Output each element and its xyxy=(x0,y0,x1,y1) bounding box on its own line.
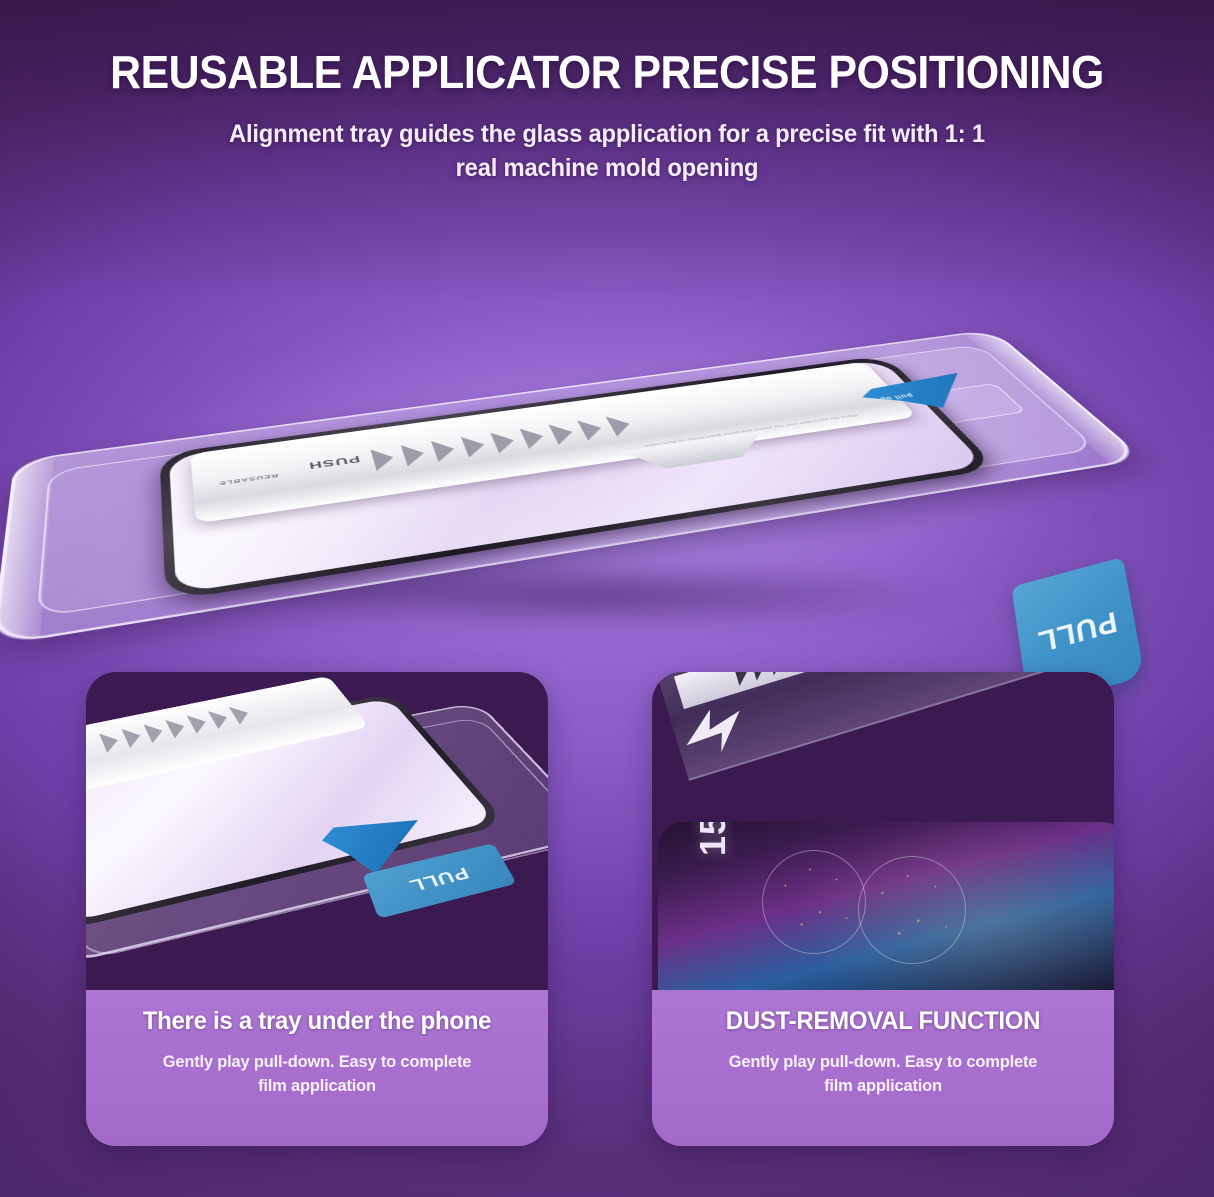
dust-removal-sticker-chevrons xyxy=(674,672,1066,709)
card-subtitle-line-1: Gently play pull-down. Easy to complete xyxy=(110,1050,523,1074)
feature-card-tray-under-phone: PULL There is a tray under the phone Gen… xyxy=(86,672,548,1146)
chevron-right-icon xyxy=(187,713,211,734)
chevron-row xyxy=(99,704,253,753)
pull-tab-label: PULL xyxy=(406,863,473,895)
card-subtitle: Gently play pull-down. Easy to complete … xyxy=(676,1050,1089,1098)
dust-particles-left xyxy=(762,850,866,954)
feature-card-dust-removal: 15:05 xyxy=(652,672,1114,1146)
phone-clock: 15:05 xyxy=(692,822,734,856)
chevron-right-icon xyxy=(768,672,785,675)
chevron-right-icon xyxy=(401,443,428,467)
card-media-dust-removal: 15:05 xyxy=(652,672,1114,990)
chevron-right-icon xyxy=(750,672,767,681)
card-media-tray-closeup: PULL xyxy=(86,672,548,990)
chevron-right-icon xyxy=(121,726,144,748)
dust-particles-right xyxy=(858,856,966,964)
card-subtitle-line-2: film application xyxy=(676,1074,1089,1098)
chevron-right-icon xyxy=(461,434,489,457)
chevron-right-icon xyxy=(165,717,189,738)
subheadline: Alignment tray guides the glass applicat… xyxy=(30,118,1183,186)
chevron-right-icon xyxy=(229,704,254,725)
dust-removal-sticker xyxy=(654,672,1100,781)
card-caption: DUST-REMOVAL FUNCTION Gently play pull-d… xyxy=(652,990,1114,1146)
chevron-right-icon xyxy=(548,422,577,445)
header: REUSABLE APPLICATOR PRECISE POSITIONING … xyxy=(0,48,1214,186)
hero-product-image: REUSABLE PUSH Place the applicator over … xyxy=(0,250,1214,670)
feature-cards: PULL There is a tray under the phone Gen… xyxy=(0,672,1214,1162)
card-caption: There is a tray under the phone Gently p… xyxy=(86,990,548,1146)
chevron-right-icon xyxy=(606,414,636,436)
subheadline-line-1: Alignment tray guides the glass applicat… xyxy=(30,118,1183,152)
chevron-right-icon xyxy=(99,731,122,753)
phone-device: 15:05 xyxy=(658,822,1114,990)
chevron-right-icon xyxy=(208,708,233,729)
card-title: There is a tray under the phone xyxy=(113,1006,522,1036)
chevron-right-icon xyxy=(490,430,518,453)
chevron-right-icon xyxy=(431,438,458,462)
card-subtitle: Gently play pull-down. Easy to complete … xyxy=(110,1050,523,1098)
subheadline-line-2: real machine mold opening xyxy=(30,152,1183,186)
chevron-right-icon xyxy=(144,722,168,744)
pull-tab-label: PULL xyxy=(1035,604,1119,658)
chevron-right-icon xyxy=(733,672,750,686)
chevron-right-icon xyxy=(577,418,607,441)
headline: REUSABLE APPLICATOR PRECISE POSITIONING xyxy=(42,48,1171,96)
chevron-right-icon xyxy=(520,426,549,449)
card-subtitle-line-2: film application xyxy=(110,1074,523,1098)
card-subtitle-line-1: Gently play pull-down. Easy to complete xyxy=(676,1050,1089,1074)
card-title: DUST-REMOVAL FUNCTION xyxy=(679,1006,1088,1036)
